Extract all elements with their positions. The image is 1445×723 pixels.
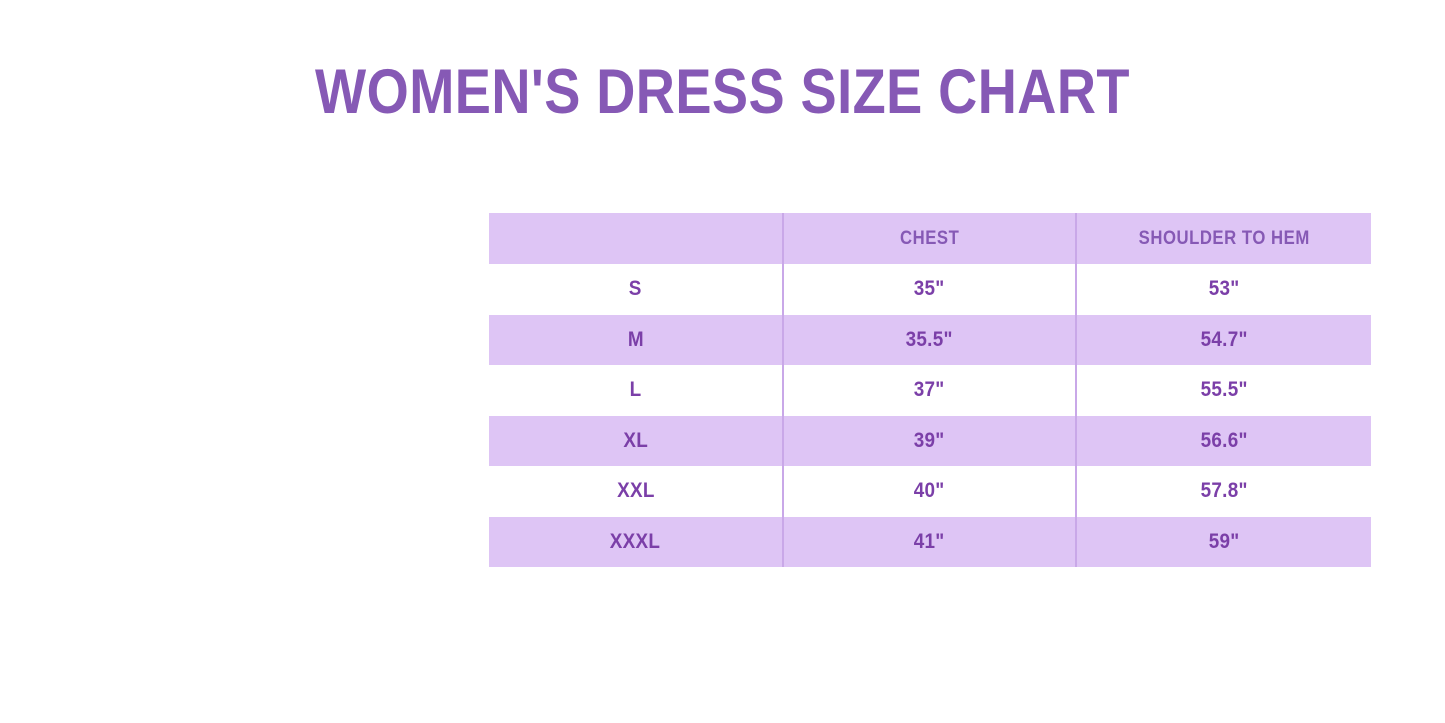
cell-shoulder-to-hem-value: 57.8" [1200,479,1247,503]
column-header-size [489,213,783,264]
table-row: M 35.5" 54.7" [489,315,1371,366]
table-row: XXL 40" 57.8" [489,466,1371,517]
cell-chest-value: 35.5" [906,328,953,352]
cell-size-value: L [630,378,642,402]
cell-shoulder-to-hem: 54.7" [1076,315,1371,366]
cell-size-value: XXXL [610,530,660,554]
cell-chest: 39" [783,416,1076,467]
column-header-chest-label: CHEST [900,228,959,250]
cell-size-value: XL [623,429,648,453]
cell-shoulder-to-hem-value: 53" [1209,277,1240,301]
cell-size: XXXL [489,517,783,568]
cell-shoulder-to-hem-value: 54.7" [1200,328,1247,352]
cell-shoulder-to-hem: 53" [1076,264,1371,315]
size-chart-table: CHEST SHOULDER TO HEM S 35" 53" M 35.5" … [489,213,1371,567]
cell-chest: 35" [783,264,1076,315]
cell-chest-value: 40" [914,479,945,503]
table-header-row: CHEST SHOULDER TO HEM [489,213,1371,264]
cell-shoulder-to-hem-value: 55.5" [1200,378,1247,402]
cell-chest-value: 41" [914,530,945,554]
table-row: L 37" 55.5" [489,365,1371,416]
cell-shoulder-to-hem: 55.5" [1076,365,1371,416]
cell-shoulder-to-hem-value: 59" [1209,530,1240,554]
cell-size: S [489,264,783,315]
cell-size: XL [489,416,783,467]
cell-size-value: M [627,328,643,352]
cell-chest-value: 37" [914,378,945,402]
cell-shoulder-to-hem-value: 56.6" [1200,429,1247,453]
cell-size: M [489,315,783,366]
cell-chest: 41" [783,517,1076,568]
cell-shoulder-to-hem: 57.8" [1076,466,1371,517]
cell-shoulder-to-hem: 56.6" [1076,416,1371,467]
size-chart-page: WOMEN'S DRESS SIZE CHART CHEST SHOULDER … [0,0,1445,723]
table-row: XL 39" 56.6" [489,416,1371,467]
cell-chest: 35.5" [783,315,1076,366]
cell-chest-value: 39" [914,429,945,453]
table-row: S 35" 53" [489,264,1371,315]
column-header-chest: CHEST [783,213,1076,264]
cell-chest: 40" [783,466,1076,517]
column-header-shoulder-to-hem: SHOULDER TO HEM [1076,213,1371,264]
cell-chest-value: 35" [914,277,945,301]
column-header-shoulder-to-hem-label: SHOULDER TO HEM [1138,228,1309,250]
table-row: XXXL 41" 59" [489,517,1371,568]
cell-size-value: XXL [617,479,655,503]
cell-size-value: S [629,277,642,301]
page-title: WOMEN'S DRESS SIZE CHART [101,57,1344,127]
cell-size: XXL [489,466,783,517]
cell-shoulder-to-hem: 59" [1076,517,1371,568]
cell-size: L [489,365,783,416]
cell-chest: 37" [783,365,1076,416]
